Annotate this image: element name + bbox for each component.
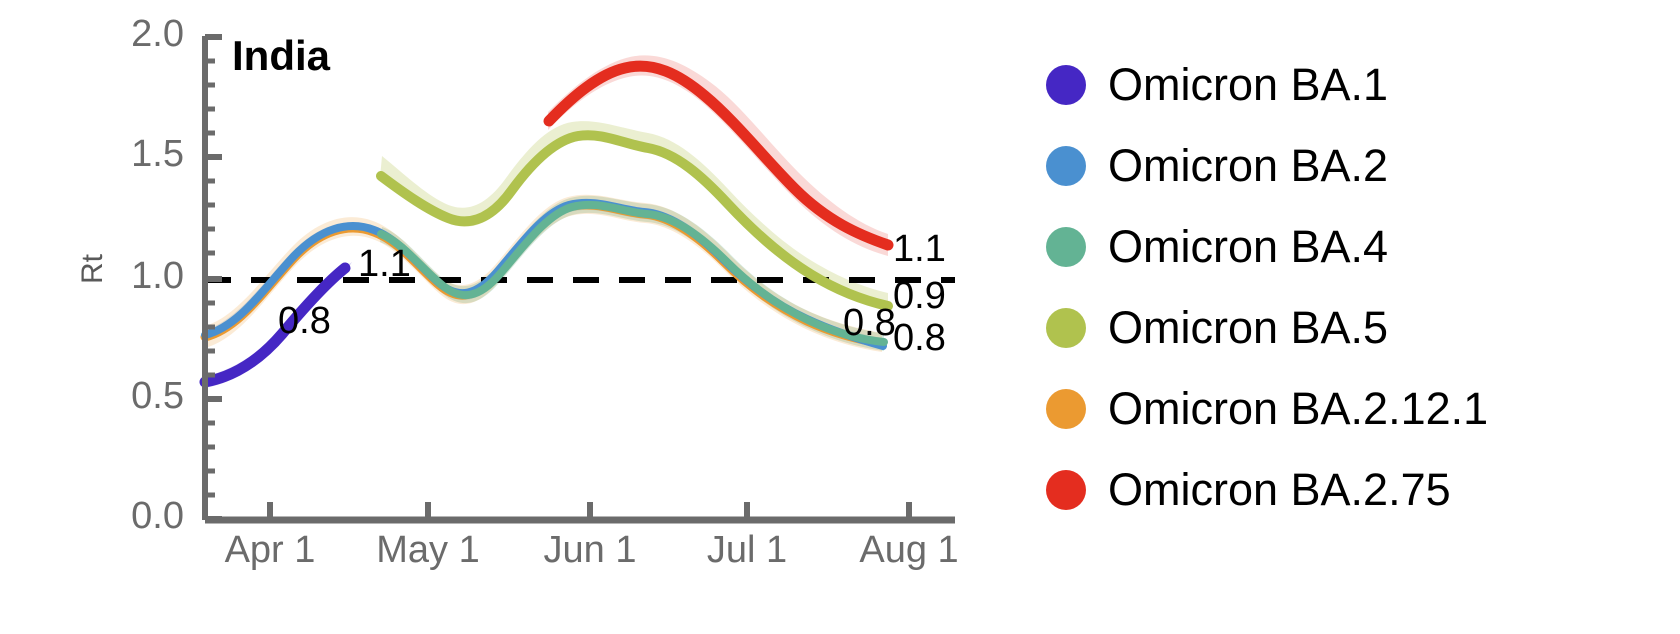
x-tick-label-3: Jul 1 [667, 529, 827, 572]
chart-panel: India Rt 0.0 0.5 1.0 1.5 2.0 Apr 1 May 1… [0, 0, 1020, 634]
legend-swatch-circle-icon [1046, 65, 1086, 105]
legend-item-ba4[interactable]: Omicron BA.4 [1046, 206, 1680, 287]
ba5-end-label: 0.9 [893, 275, 946, 318]
legend-item-label: Omicron BA.1 [1108, 62, 1388, 107]
ba4-end-label: 0.8 [843, 302, 896, 345]
legend-item-ba5[interactable]: Omicron BA.5 [1046, 287, 1680, 368]
y-tick-label-2: 1.0 [104, 255, 184, 298]
legend-swatch-circle-icon [1046, 389, 1086, 429]
panel-title: India [232, 32, 330, 80]
x-tick-label-4: Aug 1 [829, 529, 989, 572]
y-tick-label-3: 1.5 [104, 133, 184, 176]
legend-item-ba212[interactable]: Omicron BA.2.12.1 [1046, 368, 1680, 449]
y-tick-label-1: 0.5 [104, 375, 184, 418]
x-tick-label-0: Apr 1 [190, 529, 350, 572]
legend-item-label: Omicron BA.2 [1108, 143, 1388, 188]
ba1-start-label: 0.8 [278, 300, 331, 343]
legend-item-label: Omicron BA.5 [1108, 305, 1388, 350]
legend-item-ba1[interactable]: Omicron BA.1 [1046, 44, 1680, 125]
legend-item-ba275[interactable]: Omicron BA.2.75 [1046, 449, 1680, 530]
x-tick-label-2: Jun 1 [510, 529, 670, 572]
legend-swatch-circle-icon [1046, 470, 1086, 510]
x-tick-label-1: May 1 [348, 529, 508, 572]
ba212-end-label: 0.8 [893, 317, 946, 360]
chart-root: { "panel": { "title": "India", "ylabel":… [0, 0, 1680, 634]
chart-legend: Omicron BA.1 Omicron BA.2 Omicron BA.4 O… [1046, 44, 1680, 530]
y-tick-label-4: 2.0 [104, 13, 184, 56]
legend-item-ba2[interactable]: Omicron BA.2 [1046, 125, 1680, 206]
legend-swatch-circle-icon [1046, 227, 1086, 267]
legend-item-label: Omicron BA.2.12.1 [1108, 386, 1488, 431]
ba1-end-label: 1.1 [358, 243, 411, 286]
legend-swatch-circle-icon [1046, 146, 1086, 186]
legend-swatch-circle-icon [1046, 308, 1086, 348]
y-tick-label-0: 0.0 [104, 495, 184, 538]
ba275-end-label: 1.1 [893, 228, 946, 271]
legend-item-label: Omicron BA.2.75 [1108, 467, 1451, 512]
legend-item-label: Omicron BA.4 [1108, 224, 1388, 269]
